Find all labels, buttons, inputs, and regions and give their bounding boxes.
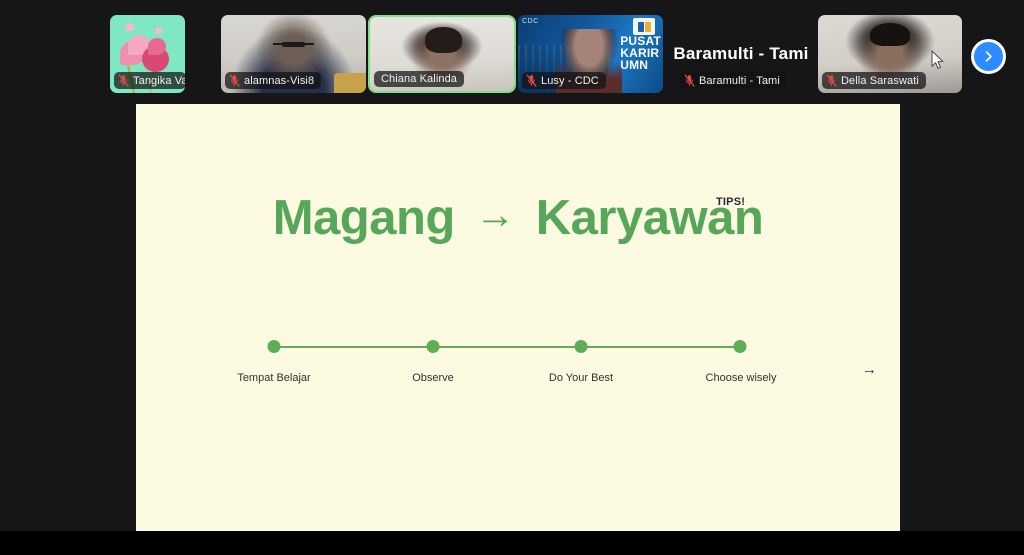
- timeline-dot-4: [734, 340, 747, 353]
- umn-badge-icon: [633, 18, 655, 35]
- participant-name-label: Tangika Valencia: [133, 75, 185, 87]
- participant-name-label: Della Saraswati: [841, 75, 919, 87]
- mic-muted-icon: [229, 74, 240, 87]
- slide-next-arrow-icon: →: [862, 362, 877, 377]
- mic-muted-icon: [118, 74, 129, 87]
- participant-tile-alamnas-visi8[interactable]: alamnas-Visi8: [221, 15, 366, 93]
- shared-screen-slide[interactable]: Magang → Karyawan TIPS! Tempat Belajar O…: [136, 104, 900, 531]
- participant-name-badge: Baramulti - Tami: [680, 72, 787, 89]
- virtual-background-text: PUSATKARIRUMN: [620, 35, 661, 71]
- filmstrip-next-page-button[interactable]: [971, 39, 1006, 74]
- mic-muted-icon: [826, 74, 837, 87]
- letterbox-bottom: [0, 531, 1024, 555]
- participant-name-label: Baramulti - Tami: [699, 75, 780, 87]
- timeline-label-1: Tempat Belajar: [237, 372, 310, 384]
- cdc-logo: CDC: [522, 18, 539, 25]
- participant-tile-della-saraswati[interactable]: Della Saraswati: [818, 15, 962, 93]
- participant-name-badge: alamnas-Visi8: [225, 72, 321, 89]
- participant-tile-tangika-valencia[interactable]: Tangika Valencia: [110, 15, 185, 93]
- participant-tile-baramulti-tami[interactable]: Baramulti - Tami Baramulti - Tami: [666, 15, 816, 93]
- timeline-dot-2: [427, 340, 440, 353]
- mic-muted-icon: [684, 74, 695, 87]
- timeline-track: [273, 346, 741, 348]
- timeline-dot-3: [575, 340, 588, 353]
- participant-tile-chiana-kalinda[interactable]: Chiana Kalinda: [368, 15, 516, 93]
- tips-flag-label: TIPS!: [716, 196, 745, 208]
- participant-name-label: Lusy - CDC: [541, 75, 599, 87]
- participant-name-badge: Tangika Valencia: [114, 72, 185, 89]
- slide-timeline: [268, 340, 746, 354]
- participant-name-label: Chiana Kalinda: [381, 73, 457, 85]
- timeline-label-3: Do Your Best: [549, 372, 613, 384]
- participant-name-badge: Lusy - CDC: [522, 72, 606, 89]
- arrow-right-icon: →: [475, 195, 515, 235]
- timeline-dot-1: [268, 340, 281, 353]
- participant-tile-lusy-cdc[interactable]: CDC PUSATKARIRUMN Lusy - CDC: [518, 15, 663, 93]
- slide-title: Magang → Karyawan: [136, 190, 900, 246]
- chevron-right-icon: [982, 50, 995, 63]
- participant-name-label: alamnas-Visi8: [244, 75, 314, 87]
- participant-filmstrip: Tangika Valencia: [0, 0, 1024, 104]
- meeting-canvas: Tangika Valencia: [0, 0, 1024, 531]
- mic-muted-icon: [526, 74, 537, 87]
- slide-timeline-labels: Tempat Belajar Observe Do Your Best Choo…: [196, 372, 896, 390]
- slide-title-word-1: Magang: [273, 191, 455, 245]
- timeline-label-2: Observe: [412, 372, 454, 384]
- screen-root: Tangika Valencia: [0, 0, 1024, 555]
- timeline-label-4: Choose wisely: [706, 372, 777, 384]
- participant-display-name: Baramulti - Tami: [673, 44, 808, 64]
- participant-name-badge: Della Saraswati: [822, 72, 926, 89]
- participant-name-badge: Chiana Kalinda: [374, 71, 464, 87]
